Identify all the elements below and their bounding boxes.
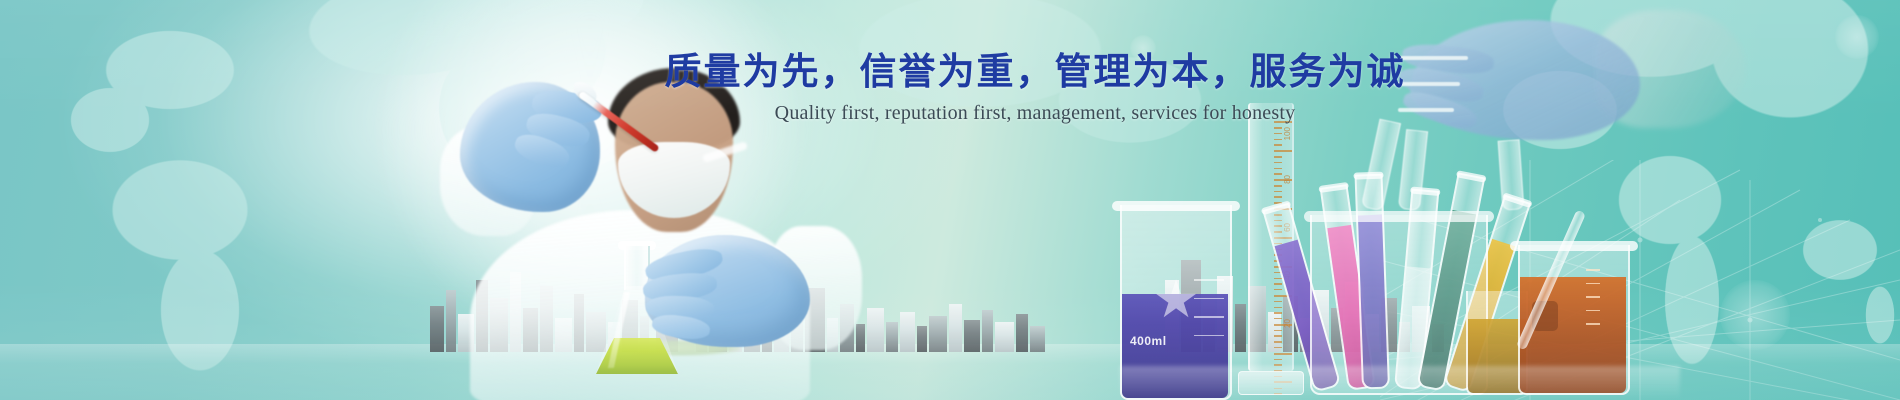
beaker-rim — [1510, 241, 1638, 251]
tube-rim — [1410, 186, 1440, 196]
glassware-reflection — [1120, 366, 1680, 400]
holder-beaker-rim — [1304, 211, 1494, 222]
bokeh-4 — [1130, 35, 1156, 61]
tube-highlight — [1398, 56, 1468, 60]
beaker-rim — [1112, 201, 1240, 211]
cylinder-tick-label: 100 — [1283, 127, 1292, 140]
tube-rim — [1456, 170, 1487, 183]
tube-rim — [1318, 182, 1349, 193]
beaker-with-test-tubes — [1310, 155, 1488, 395]
bokeh-3 — [1835, 15, 1879, 59]
lab-scientist — [440, 30, 860, 400]
map-oceania — [1780, 200, 1900, 360]
cylinder-tick-label: 80 — [1283, 175, 1292, 184]
tube-highlight — [1394, 82, 1460, 86]
cylinder-tick-label: 20 — [1283, 319, 1292, 328]
hero-banner: ★ 400ml 100 80 60 40 20 — [0, 0, 1900, 400]
tube-rim — [1353, 172, 1383, 180]
laboratory-glassware-group: ★ 400ml 100 80 60 40 20 — [1120, 95, 1680, 400]
beaker-graduations — [1586, 269, 1616, 373]
beaker-volume-label: 400ml — [1130, 334, 1167, 348]
beaker-graduations — [1194, 279, 1224, 379]
bokeh-2 — [1720, 280, 1790, 350]
tube-rim — [1502, 192, 1533, 208]
